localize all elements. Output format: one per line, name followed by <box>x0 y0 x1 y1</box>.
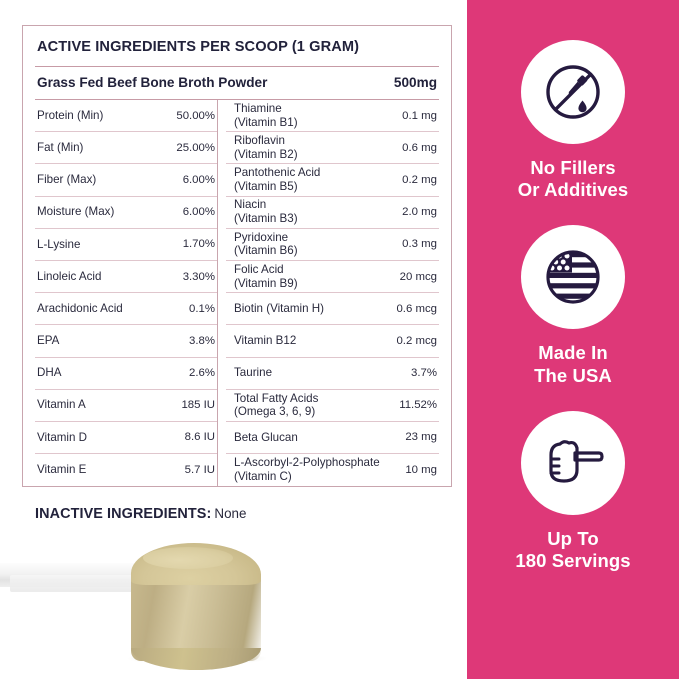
table-row: Vitamin A 185 IU <box>35 390 217 422</box>
feature-badges-panel: No Fillers Or Additives <box>467 0 679 679</box>
ingredients-grid: Protein (Min) 50.00% Fat (Min) 25.00% Fi… <box>23 100 451 486</box>
ingredient-name: Vitamin D <box>37 431 87 445</box>
ingredient-amount: 5.7 IU <box>179 464 215 476</box>
table-row: Taurine 3.7% <box>226 358 439 390</box>
ingredients-column-right: Thiamine (Vitamin B1) 0.1 mg Riboflavin … <box>226 100 439 486</box>
ingredient-name: Vitamin E <box>37 463 86 477</box>
ingredient-amount: 0.1% <box>183 303 215 315</box>
ingredient-amount: 6.00% <box>177 206 215 218</box>
table-row: Folic Acid (Vitamin B9) 20 mcg <box>226 261 439 293</box>
ingredient-name: L-Ascorbyl-2-Polyphosphate (Vitamin C) <box>234 456 380 483</box>
ingredient-name: Linoleic Acid <box>37 270 101 284</box>
scoop-handle-highlight <box>10 575 135 592</box>
left-panel: ACTIVE INGREDIENTS PER SCOOP (1 GRAM) Gr… <box>0 0 467 679</box>
table-row: Niacin (Vitamin B3) 2.0 mg <box>226 197 439 229</box>
ingredient-amount: 2.6% <box>183 367 215 379</box>
ingredient-name: Fat (Min) <box>37 141 83 155</box>
ingredient-name: Folic Acid (Vitamin B9) <box>234 263 298 290</box>
supplement-facts-page: ACTIVE INGREDIENTS PER SCOOP (1 GRAM) Gr… <box>0 0 679 679</box>
table-row: Beta Glucan 23 mg <box>226 422 439 454</box>
table-row: L-Ascorbyl-2-Polyphosphate (Vitamin C) 1… <box>226 454 439 486</box>
main-ingredient-amount: 500mg <box>394 75 437 90</box>
table-row: DHA 2.6% <box>35 358 217 390</box>
ingredient-name: Pyridoxine (Vitamin B6) <box>234 231 298 258</box>
inactive-ingredients-value: None <box>214 506 246 521</box>
table-row: Riboflavin (Vitamin B2) 0.6 mg <box>226 132 439 164</box>
table-row: Biotin (Vitamin H) 0.6 mcg <box>226 293 439 325</box>
table-row: Pyridoxine (Vitamin B6) 0.3 mg <box>226 229 439 261</box>
badge-servings: Up To 180 Servings <box>467 411 679 572</box>
scoop-powder <box>131 543 261 585</box>
ingredient-amount: 3.7% <box>405 367 437 379</box>
ingredient-amount: 3.30% <box>177 271 215 283</box>
ingredient-amount: 1.70% <box>177 238 215 250</box>
ingredient-amount: 10 mg <box>399 464 437 476</box>
ingredient-name: Biotin (Vitamin H) <box>234 302 324 316</box>
table-row: Vitamin D 8.6 IU <box>35 422 217 454</box>
ingredient-amount: 2.0 mg <box>396 206 437 218</box>
ingredient-amount: 0.6 mcg <box>390 303 437 315</box>
table-row: Fat (Min) 25.00% <box>35 132 217 164</box>
badge-circle <box>521 225 625 329</box>
scoop-cup <box>131 575 261 661</box>
main-ingredient-name: Grass Fed Beef Bone Broth Powder <box>37 75 267 90</box>
ingredients-column-left: Protein (Min) 50.00% Fat (Min) 25.00% Fi… <box>35 100 217 486</box>
ingredient-name: Pantothenic Acid (Vitamin B5) <box>234 166 320 193</box>
ingredient-amount: 0.3 mg <box>396 238 437 250</box>
ingredient-amount: 20 mcg <box>394 271 437 283</box>
ingredient-amount: 6.00% <box>177 174 215 186</box>
badge-label: Made In The USA <box>534 342 612 386</box>
main-ingredient-row: Grass Fed Beef Bone Broth Powder 500mg <box>23 67 451 99</box>
ingredient-name: Riboflavin (Vitamin B2) <box>234 134 298 161</box>
table-row: Arachidonic Acid 0.1% <box>35 293 217 325</box>
usa-flag-icon <box>544 248 602 306</box>
ingredient-name: Fiber (Max) <box>37 173 96 187</box>
ingredient-name: Vitamin A <box>37 398 86 412</box>
scoop-photo <box>0 520 300 679</box>
ingredient-amount: 11.52% <box>393 399 437 411</box>
ingredient-amount: 0.6 mg <box>396 142 437 154</box>
ingredient-amount: 0.1 mg <box>396 110 437 122</box>
table-row: Vitamin B12 0.2 mcg <box>226 325 439 357</box>
table-row: EPA 3.8% <box>35 325 217 357</box>
table-row: Protein (Min) 50.00% <box>35 100 217 132</box>
badge-label: Up To 180 Servings <box>515 528 630 572</box>
ingredient-amount: 0.2 mg <box>396 174 437 186</box>
ingredient-name: Beta Glucan <box>234 431 298 445</box>
scoop-icon <box>541 437 605 489</box>
ingredient-amount: 185 IU <box>175 399 215 411</box>
table-row: Pantothenic Acid (Vitamin B5) 0.2 mg <box>226 164 439 196</box>
badge-label: No Fillers Or Additives <box>518 157 629 201</box>
badge-no-fillers: No Fillers Or Additives <box>467 40 679 201</box>
table-title: ACTIVE INGREDIENTS PER SCOOP (1 GRAM) <box>23 26 451 66</box>
ingredient-amount: 25.00% <box>170 142 215 154</box>
ingredient-name: Niacin (Vitamin B3) <box>234 198 298 225</box>
ingredient-name: Protein (Min) <box>37 109 103 123</box>
table-row: Thiamine (Vitamin B1) 0.1 mg <box>226 100 439 132</box>
ingredient-name: Moisture (Max) <box>37 205 114 219</box>
ingredient-amount: 0.2 mcg <box>390 335 437 347</box>
ingredient-amount: 3.8% <box>183 335 215 347</box>
column-divider <box>217 100 218 486</box>
table-row: Moisture (Max) 6.00% <box>35 197 217 229</box>
ingredient-name: DHA <box>37 366 61 380</box>
badge-circle <box>521 40 625 144</box>
badge-made-in-usa: Made In The USA <box>467 225 679 386</box>
ingredient-name: Taurine <box>234 366 272 380</box>
table-row: L-Lysine 1.70% <box>35 229 217 261</box>
ingredient-name: Arachidonic Acid <box>37 302 123 316</box>
active-ingredients-table: ACTIVE INGREDIENTS PER SCOOP (1 GRAM) Gr… <box>22 25 452 487</box>
table-row: Fiber (Max) 6.00% <box>35 164 217 196</box>
table-row: Linoleic Acid 3.30% <box>35 261 217 293</box>
table-row: Vitamin E 5.7 IU <box>35 454 217 486</box>
ingredient-name: Vitamin B12 <box>234 334 296 348</box>
ingredient-name: L-Lysine <box>37 238 80 252</box>
ingredient-amount: 8.6 IU <box>179 431 215 443</box>
ingredient-name: Total Fatty Acids (Omega 3, 6, 9) <box>234 392 318 419</box>
badge-circle <box>521 411 625 515</box>
ingredient-name: EPA <box>37 334 59 348</box>
ingredient-name: Thiamine (Vitamin B1) <box>234 102 298 129</box>
no-dropper-icon <box>542 61 604 123</box>
ingredient-amount: 23 mg <box>399 431 437 443</box>
table-row: Total Fatty Acids (Omega 3, 6, 9) 11.52% <box>226 390 439 422</box>
ingredient-amount: 50.00% <box>170 110 215 122</box>
